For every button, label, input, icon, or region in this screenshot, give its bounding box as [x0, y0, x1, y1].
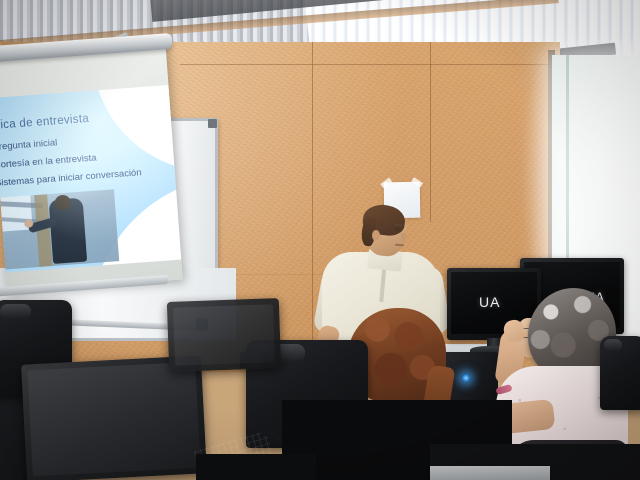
chair-highlight [0, 304, 31, 319]
monitor-screen-text: UA [479, 294, 500, 310]
presenter-eye [395, 228, 400, 232]
classroom-photo: écnica de entrevista • Pregunta inicial … [0, 0, 640, 480]
projection-screen: écnica de entrevista • Pregunta inicial … [0, 45, 183, 292]
presenter-nose [401, 233, 407, 240]
slide-bullet-3: • Sistemas para iniciar conversación [0, 167, 142, 189]
slide-title: écnica de entrevista [0, 113, 89, 133]
chair-highlight [604, 339, 622, 351]
slide-corner-shape [92, 85, 181, 180]
projected-slide: écnica de entrevista • Pregunta inicial … [0, 85, 181, 274]
chair-back-right[interactable] [600, 336, 640, 410]
whiteboard-corner [208, 119, 217, 128]
monitor-back-foreground-left[interactable] [21, 355, 207, 480]
monitor-back-panel [27, 362, 200, 477]
slide-photo [0, 189, 119, 269]
monitor-back-panel [173, 304, 275, 365]
power-led-icon [462, 374, 470, 382]
presenter-ear [372, 230, 380, 241]
wall-seam [312, 42, 313, 342]
monitor-back-midground[interactable] [167, 298, 281, 372]
foreground-desk-edge [196, 454, 316, 480]
wall-seam [180, 64, 560, 65]
wall-seam [430, 42, 431, 222]
slide-bullet-1: • Pregunta inicial [0, 137, 58, 153]
desk-surface-front [430, 466, 550, 480]
slide-bullet-2: • Cortesía en la entrevista [0, 152, 97, 171]
